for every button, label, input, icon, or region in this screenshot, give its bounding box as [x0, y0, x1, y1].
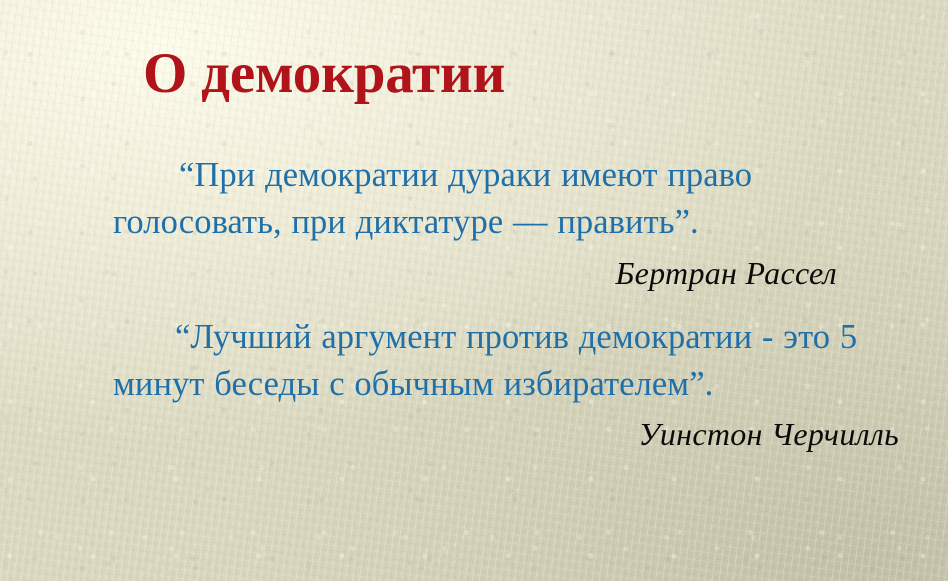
slide-content: О демократии “При демократии дураки имею… [0, 0, 948, 581]
presentation-slide: О демократии “При демократии дураки имею… [0, 0, 948, 581]
attribution-churchill: Уинстон Черчилль [113, 414, 903, 456]
quote-text-russell: “При демократии дураки имеют право голос… [113, 152, 903, 247]
slide-title: О демократии [143, 44, 505, 104]
attribution-russell: Бертран Рассел [113, 253, 903, 295]
spacer [113, 294, 903, 314]
quote-text-churchill: “Лучший аргумент против демократии - это… [113, 314, 903, 409]
quotes-block: “При демократии дураки имеют право голос… [113, 152, 903, 455]
